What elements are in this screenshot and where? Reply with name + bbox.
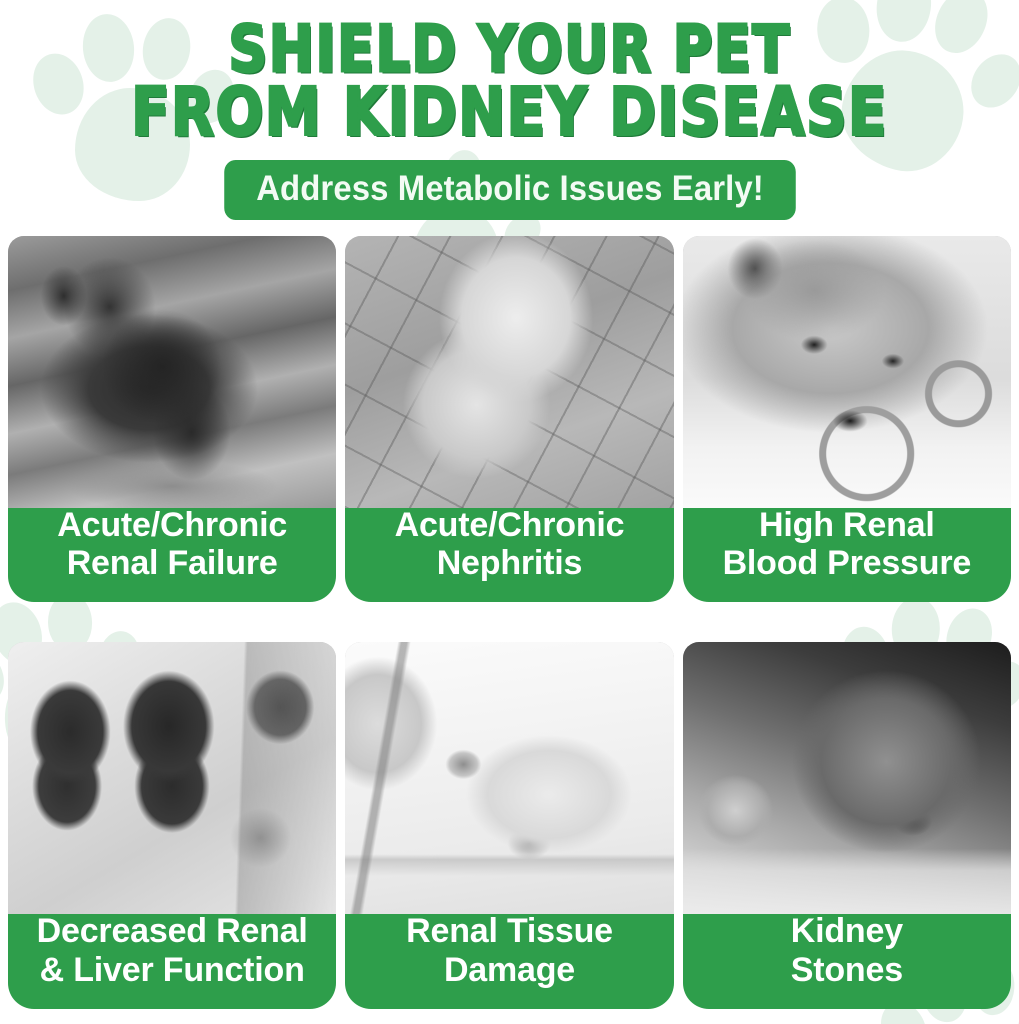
card-label-line-1: High Renal bbox=[759, 506, 935, 544]
title-line-2: From Kidney Disease bbox=[0, 82, 1019, 147]
subtitle-banner: Address Metabolic Issues Early! bbox=[224, 160, 796, 221]
title-line-1: Shield Your Pet bbox=[0, 19, 1019, 81]
condition-card-grid: Acute/Chronic Renal Failure Acute/Chroni… bbox=[0, 236, 1019, 1008]
condition-card[interactable]: Acute/Chronic Renal Failure bbox=[8, 236, 336, 602]
card-label-line-1: Acute/Chronic bbox=[395, 506, 625, 544]
kidney-anatomy-with-monitor-photo bbox=[8, 642, 336, 914]
card-label-line-2: & Liver Function bbox=[40, 951, 305, 989]
emaciated-dog-sitting-outdoors-photo bbox=[8, 236, 336, 508]
veterinarian-examining-dog-photo bbox=[345, 642, 673, 914]
infographic-poster: Shield Your Pet From Kidney Disease Addr… bbox=[0, 0, 1019, 1024]
condition-card[interactable]: Acute/Chronic Nephritis bbox=[345, 236, 673, 602]
card-label-line-2: Damage bbox=[444, 951, 575, 989]
page-title: Shield Your Pet From Kidney Disease bbox=[0, 12, 1019, 146]
thin-dog-sitting-on-brick-pavement-photo bbox=[345, 236, 673, 508]
card-label-line-2: Blood Pressure bbox=[723, 544, 972, 582]
card-label-line-1: Renal Tissue bbox=[406, 912, 613, 950]
card-label: Acute/Chronic Nephritis bbox=[345, 494, 673, 602]
shiba-inu-with-stethoscope-photo bbox=[683, 236, 1011, 508]
card-label-line-1: Decreased Renal bbox=[37, 912, 308, 950]
card-label: Decreased Renal & Liver Function bbox=[8, 900, 336, 1008]
card-label: High Renal Blood Pressure bbox=[683, 494, 1011, 602]
condition-card[interactable]: High Renal Blood Pressure bbox=[683, 236, 1011, 602]
card-label-line-1: Acute/Chronic bbox=[57, 506, 287, 544]
card-label: Acute/Chronic Renal Failure bbox=[8, 494, 336, 602]
card-label-line-2: Nephritis bbox=[437, 544, 583, 582]
card-label-line-2: Stones bbox=[791, 951, 903, 989]
card-label-line-2: Renal Failure bbox=[67, 544, 278, 582]
poster-header: Shield Your Pet From Kidney Disease Addr… bbox=[0, 0, 1019, 220]
card-label: Renal Tissue Damage bbox=[345, 900, 673, 1008]
condition-card[interactable]: Kidney Stones bbox=[683, 642, 1011, 1008]
dog-lying-down-resting-photo bbox=[683, 642, 1011, 914]
condition-card[interactable]: Renal Tissue Damage bbox=[345, 642, 673, 1008]
card-label-line-1: Kidney bbox=[791, 912, 903, 950]
card-label: Kidney Stones bbox=[683, 900, 1011, 1008]
condition-card[interactable]: Decreased Renal & Liver Function bbox=[8, 642, 336, 1008]
